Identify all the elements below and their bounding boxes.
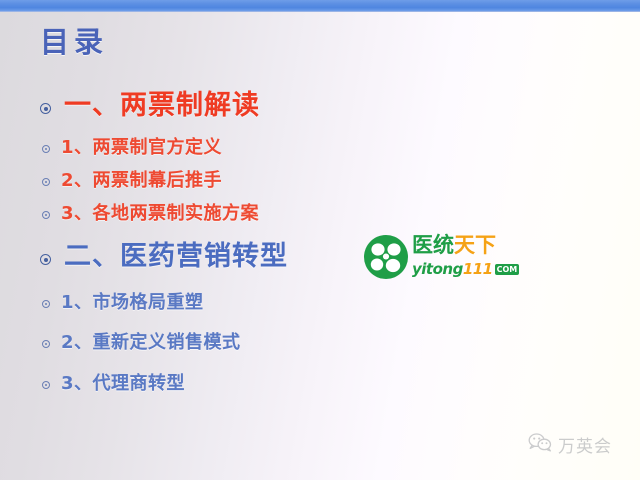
toc-section-heading[interactable]: 一、两票制解读 (40, 92, 260, 119)
toc-section-heading[interactable]: 二、医药营销转型 (40, 243, 288, 270)
page-title: 目录 (40, 19, 108, 61)
toc-item[interactable]: 1、市场格局重塑 (42, 294, 204, 312)
toc-item-label: 3、代理商转型 (61, 375, 185, 393)
toc-item-label: 2、重新定义销售模式 (61, 334, 241, 352)
toc-item[interactable]: 2、两票制幕后推手 (42, 172, 222, 190)
toc-item[interactable]: 3、各地两票制实施方案 (42, 205, 259, 223)
logo-name-part-a: 医统 (412, 233, 454, 257)
ring-dot-bullet-icon (42, 145, 50, 153)
yitong-logo: 医统天下 yitong111COM (363, 234, 513, 280)
ring-dot-bullet-icon (42, 381, 50, 389)
logo-name-part-b: 天下 (454, 233, 496, 257)
ring-dot-bullet-icon (42, 211, 50, 219)
presentation-slide: 目录 一、两票制解读 1、两票制官方定义 2、两票制幕后推手 3、各地两票制实施… (0, 0, 640, 480)
toc-item-label: 1、两票制官方定义 (61, 139, 222, 157)
toc-item[interactable]: 2、重新定义销售模式 (42, 334, 241, 352)
logo-wordmark: 医统天下 yitong111COM (412, 235, 514, 279)
logo-domain: yitong111COM (412, 260, 519, 278)
toc-section-label: 一、两票制解读 (64, 92, 260, 119)
toc-item-label: 1、市场格局重塑 (61, 294, 204, 312)
ring-dot-bullet-icon (42, 300, 50, 308)
watermark-text: 万英会 (558, 432, 612, 457)
toc-item[interactable]: 1、两票制官方定义 (42, 139, 222, 157)
ring-dot-bullet-icon (42, 178, 50, 186)
wechat-icon (528, 432, 552, 457)
ring-dot-bullet-icon (40, 254, 51, 265)
toc-item-label: 2、两票制幕后推手 (61, 172, 222, 190)
toc-item[interactable]: 3、代理商转型 (42, 375, 185, 393)
ring-dot-bullet-icon (40, 103, 51, 114)
toc-section-label: 二、医药营销转型 (64, 243, 288, 270)
logo-domain-tld: COM (495, 264, 520, 275)
logo-chinese-name: 医统天下 (412, 235, 514, 256)
ring-dot-bullet-icon (42, 340, 50, 348)
logo-domain-part-b: 111 (463, 260, 493, 278)
logo-domain-part-a: yitong (412, 260, 463, 278)
watermark: 万英会 (528, 432, 612, 457)
top-accent-bar (0, 0, 640, 12)
toc-item-label: 3、各地两票制实施方案 (61, 205, 259, 223)
green-circle-petals-logo-icon (363, 234, 409, 280)
